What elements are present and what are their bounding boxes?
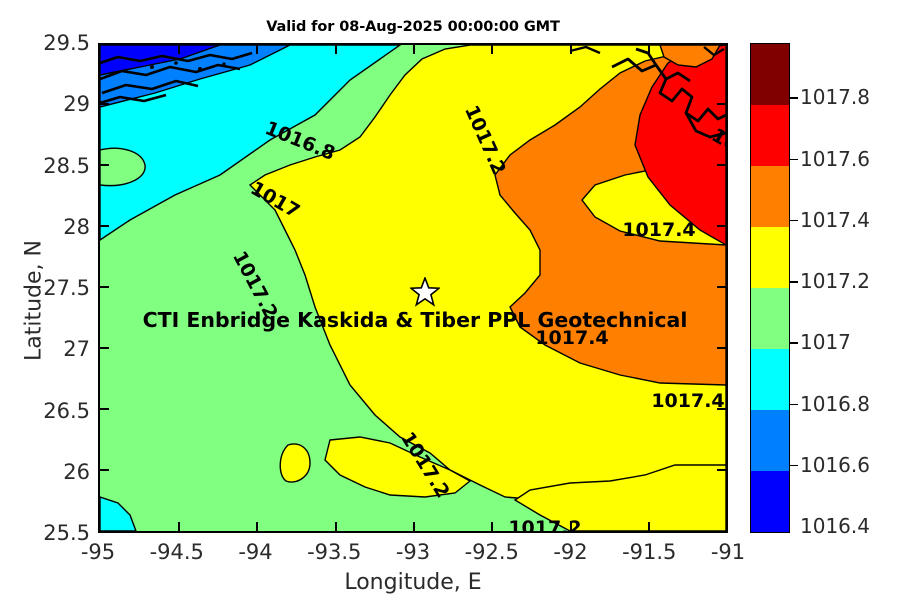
x-tickmark bbox=[648, 522, 650, 531]
y-tickmark-right bbox=[717, 469, 726, 471]
y-tickmark-right bbox=[717, 347, 726, 349]
y-tick-label: 27 bbox=[63, 337, 90, 361]
y-tick-label: 29 bbox=[63, 92, 90, 116]
y-tick-label: 28 bbox=[63, 215, 90, 239]
colorbar-band bbox=[751, 227, 789, 288]
contour-label: 1017.4 bbox=[651, 390, 724, 412]
x-tickmark bbox=[413, 522, 415, 531]
y-tick-label: 29.5 bbox=[43, 31, 90, 55]
x-tick-label: -92 bbox=[553, 540, 587, 564]
colorbar-band bbox=[751, 471, 789, 532]
colorbar-band bbox=[751, 166, 789, 227]
colorbar-tickmark bbox=[790, 342, 798, 344]
x-tickmark-top bbox=[256, 45, 258, 54]
contour-label: 1017.2 bbox=[508, 517, 581, 533]
y-tickmark bbox=[100, 286, 109, 288]
y-tickmark bbox=[100, 103, 109, 105]
y-axis-title: Latitude, N bbox=[22, 181, 47, 421]
x-tick-label: -92.5 bbox=[465, 540, 519, 564]
colorbar-band bbox=[751, 410, 789, 471]
y-tickmark-right bbox=[717, 103, 726, 105]
contour-plot-area: 1016.810171017.21017.21017.61017.41017.4… bbox=[98, 43, 728, 533]
x-tick-label: -94 bbox=[238, 540, 272, 564]
x-tickmark-top bbox=[335, 45, 337, 54]
colorbar-tick-label: 1017.2 bbox=[800, 269, 870, 293]
colorbar-tickmark bbox=[790, 159, 798, 161]
x-tickmark bbox=[335, 522, 337, 531]
colorbar-tickmark bbox=[790, 97, 798, 99]
y-tickmark bbox=[100, 408, 109, 410]
x-tick-label: -95 bbox=[81, 540, 115, 564]
colorbar-band bbox=[751, 349, 789, 410]
colorbar-tick-label: 1017.6 bbox=[800, 147, 870, 171]
x-tickmark-top bbox=[570, 45, 572, 54]
x-axis-ticklabels: -95-94.5-94-93.5-93-92.5-92-91.5-91 bbox=[0, 540, 900, 570]
y-tick-label: 28.5 bbox=[43, 154, 90, 178]
figure-title: Valid for 08-Aug-2025 00:00:00 GMT bbox=[98, 19, 728, 35]
x-tick-label: -91 bbox=[711, 540, 745, 564]
x-tickmark-top bbox=[648, 45, 650, 54]
x-tickmark-top bbox=[178, 45, 180, 54]
y-tickmark bbox=[100, 347, 109, 349]
colorbar-band bbox=[751, 105, 789, 166]
y-tickmark-right bbox=[717, 164, 726, 166]
x-tickmark bbox=[256, 522, 258, 531]
pressure-contour-figure: Valid for 08-Aug-2025 00:00:00 GMT bbox=[0, 0, 900, 600]
y-tickmark-right bbox=[717, 225, 726, 227]
x-tickmark-top bbox=[491, 45, 493, 54]
x-tick-label: -93 bbox=[396, 540, 430, 564]
colorbar-tick-label: 1017 bbox=[800, 330, 851, 354]
x-tickmark-top bbox=[413, 45, 415, 54]
y-tick-label: 26.5 bbox=[43, 399, 90, 423]
colorbar-tickmark bbox=[790, 281, 798, 283]
y-tickmark bbox=[100, 164, 109, 166]
x-tick-label: -93.5 bbox=[307, 540, 361, 564]
station-label: CTI Enbridge Kaskida & Tiber PPL Geotech… bbox=[143, 308, 688, 332]
y-tickmark bbox=[100, 469, 109, 471]
colorbar-tick-label: 1016.6 bbox=[800, 453, 870, 477]
x-axis-title: Longitude, E bbox=[98, 570, 728, 595]
colorbar-tick-label: 1017.4 bbox=[800, 208, 870, 232]
y-tickmark-right bbox=[717, 286, 726, 288]
colorbar-tick-label: 1016.8 bbox=[800, 392, 870, 416]
contour-label: 1017.4 bbox=[622, 219, 695, 241]
station-star-icon bbox=[410, 277, 440, 311]
colorbar-tickmark bbox=[790, 465, 798, 467]
colorbar-tickmark bbox=[790, 220, 798, 222]
x-tick-label: -94.5 bbox=[150, 540, 204, 564]
colorbar-tickmark bbox=[790, 404, 798, 406]
x-tickmark bbox=[178, 522, 180, 531]
colorbar-band bbox=[751, 44, 789, 105]
x-tickmark bbox=[491, 522, 493, 531]
y-tickmark bbox=[100, 225, 109, 227]
colorbar bbox=[750, 43, 790, 533]
colorbar-tick-label: 1016.4 bbox=[800, 514, 870, 538]
y-tick-label: 26 bbox=[63, 460, 90, 484]
region-1017-2-blob bbox=[280, 444, 310, 482]
y-tick-label: 27.5 bbox=[43, 276, 90, 300]
colorbar-band bbox=[751, 288, 789, 349]
colorbar-tick-label: 1017.8 bbox=[800, 85, 870, 109]
x-tick-label: -91.5 bbox=[622, 540, 676, 564]
